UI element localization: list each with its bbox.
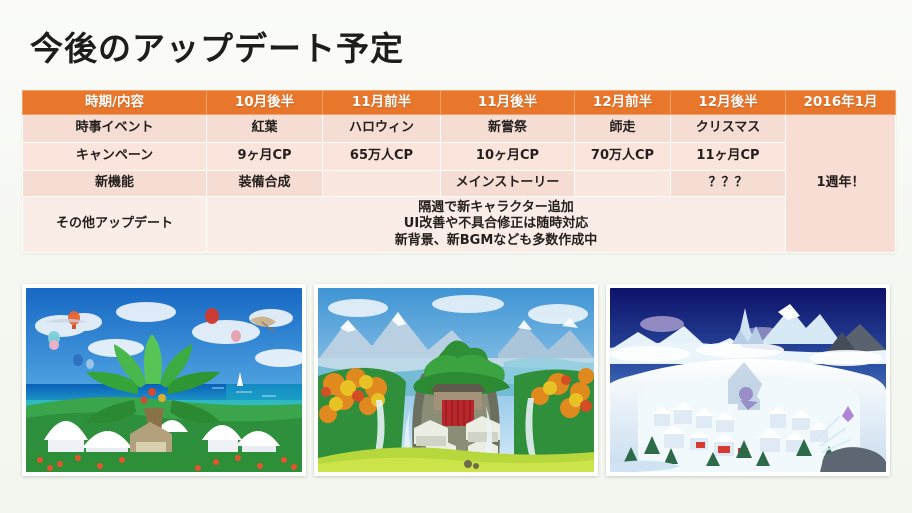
row-label-other-updates: その他アップデート — [23, 197, 207, 253]
row-label-seasonal-event: 時事イベント — [23, 115, 207, 143]
table-header-row: 時期/内容 10月後半 11月前半 11月後半 12月前半 12月後半 2016… — [23, 91, 896, 115]
column-header-dec-late: 12月後半 — [671, 91, 786, 115]
tropical-beach-town-illustration — [26, 288, 302, 472]
table-row: その他アップデート 隔週で新キャラクター追加 UI改善や不具合修正は随時対応 新… — [23, 197, 896, 253]
row-label-new-feature: 新機能 — [23, 171, 207, 197]
winter-snow-city-illustration — [610, 288, 886, 472]
table-row: 時事イベント 紅葉 ハロウィン 新嘗祭 師走 クリスマス 1週年！ — [23, 115, 896, 143]
artwork-thumbnail-tropical-beach-town[interactable] — [22, 284, 306, 476]
tropical-beach-town-image — [26, 288, 302, 472]
cell-feature-dec-early — [575, 171, 671, 197]
cell-seasonal-dec-early: 師走 — [575, 115, 671, 143]
update-schedule-table: 時期/内容 10月後半 11月前半 11月後半 12月前半 12月後半 2016… — [22, 90, 896, 253]
cell-campaign-dec-early: 70万人CP — [575, 143, 671, 171]
column-header-dec-early: 12月前半 — [575, 91, 671, 115]
table-row: キャンペーン 9ヶ月CP 65万人CP 10ヶ月CP 70万人CP 11ヶ月CP — [23, 143, 896, 171]
winter-snow-city-image — [610, 288, 886, 472]
autumn-mountain-village-illustration — [318, 288, 594, 472]
cell-feature-nov-late: メインストーリー — [441, 171, 575, 197]
page-title: 今後のアップデート予定 — [30, 22, 404, 70]
cell-anniversary: 1週年！ — [786, 115, 896, 253]
cell-seasonal-dec-late: クリスマス — [671, 115, 786, 143]
artwork-thumbnail-winter-snow-city[interactable] — [606, 284, 890, 476]
column-header-jan-2016: 2016年1月 — [786, 91, 896, 115]
cell-feature-oct-late: 装備合成 — [207, 171, 323, 197]
column-header-oct-late: 10月後半 — [207, 91, 323, 115]
column-header-category: 時期/内容 — [23, 91, 207, 115]
cell-seasonal-nov-late: 新嘗祭 — [441, 115, 575, 143]
note-line-1: 隔週で新キャラクター追加 — [207, 200, 785, 216]
cell-feature-nov-early — [323, 171, 441, 197]
cell-feature-dec-late: ？？？ — [671, 171, 786, 197]
note-line-2: UI改善や不具合修正は随時対応 — [207, 216, 785, 232]
row-label-campaign: キャンペーン — [23, 143, 207, 171]
note-line-3: 新背景、新BGMなども多数作成中 — [207, 233, 785, 249]
cell-campaign-oct-late: 9ヶ月CP — [207, 143, 323, 171]
artwork-strip — [22, 284, 890, 480]
table-row: 新機能 装備合成 メインストーリー ？？？ — [23, 171, 896, 197]
cell-campaign-dec-late: 11ヶ月CP — [671, 143, 786, 171]
autumn-mountain-village-image — [318, 288, 594, 472]
cell-seasonal-oct-late: 紅葉 — [207, 115, 323, 143]
cell-campaign-nov-late: 10ヶ月CP — [441, 143, 575, 171]
column-header-nov-late: 11月後半 — [441, 91, 575, 115]
slide-canvas: 今後のアップデート予定 時期/内容 10月後半 11月前半 11月後半 12月前… — [0, 0, 912, 513]
cell-campaign-nov-early: 65万人CP — [323, 143, 441, 171]
cell-other-updates-notes: 隔週で新キャラクター追加 UI改善や不具合修正は随時対応 新背景、新BGMなども… — [207, 197, 786, 253]
artwork-thumbnail-autumn-mountain-village[interactable] — [314, 284, 598, 476]
column-header-nov-early: 11月前半 — [323, 91, 441, 115]
cell-seasonal-nov-early: ハロウィン — [323, 115, 441, 143]
